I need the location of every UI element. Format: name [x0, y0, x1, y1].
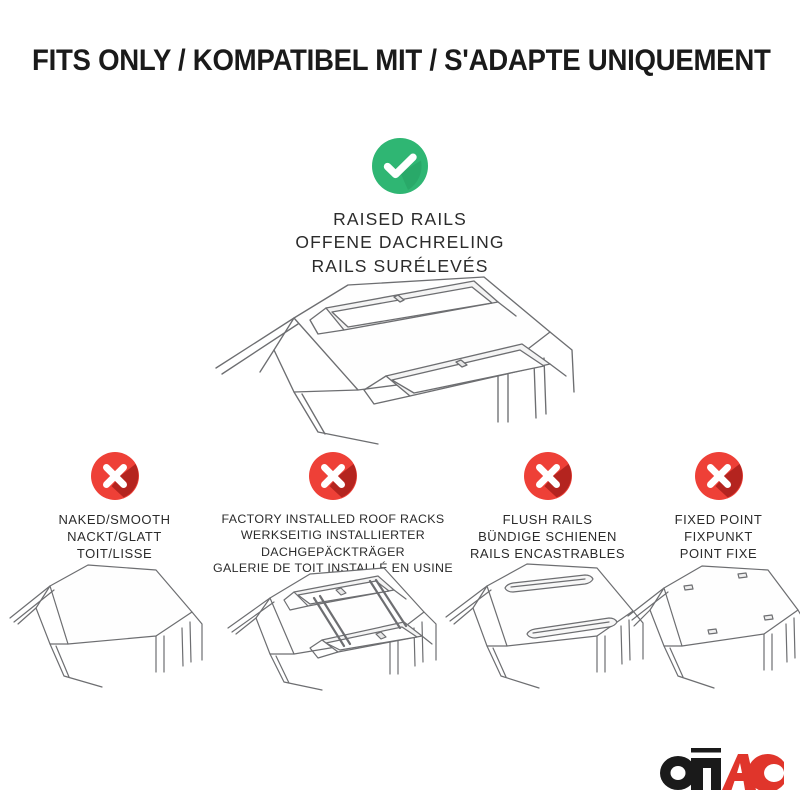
incompatible-item-flush-rails: FLUSH RAILS BÜNDIGE SCHIENEN RAILS ENCAS… — [455, 452, 640, 562]
incompatible-section: NAKED/SMOOTH NACKT/GLATT TOIT/LISSE FACT… — [0, 452, 800, 572]
car-roof-naked-illustration — [6, 556, 206, 691]
logo-letter-m — [691, 758, 721, 790]
check-badge-wrap — [0, 138, 800, 194]
incompatible-labels: FIXED POINT FIXPUNKT POINT FIXE — [637, 511, 800, 562]
incompatible-label-de: NACKT/GLATT — [17, 528, 212, 545]
incompatible-labels: FLUSH RAILS BÜNDIGE SCHIENEN RAILS ENCAS… — [455, 511, 640, 562]
compatible-labels: RAISED RAILS OFFENE DACHRELING RAILS SUR… — [0, 208, 800, 278]
compatible-label-en: RAISED RAILS — [0, 208, 800, 231]
car-roof-flush-rails-illustration — [443, 556, 648, 691]
incompatible-label-en: FLUSH RAILS — [455, 511, 640, 528]
incompatible-item-naked-smooth: NAKED/SMOOTH NACKT/GLATT TOIT/LISSE — [17, 452, 212, 562]
incompatible-label-de-1: WERKSEITIG INSTALLIERTER — [208, 527, 458, 543]
car-roof-factory-racks-illustration — [218, 556, 452, 691]
x-circle-icon — [695, 452, 743, 500]
logo-letter-o — [660, 756, 696, 790]
page-title: FITS ONLY / KOMPATIBEL MIT / S'ADAPTE UN… — [32, 46, 768, 76]
car-roof-fixed-point-illustration — [626, 556, 800, 691]
incompatible-label-en: FIXED POINT — [637, 511, 800, 528]
omac-logo — [660, 748, 784, 790]
check-circle-icon — [372, 138, 428, 194]
logo-letter-c — [748, 754, 784, 790]
logo-bar — [691, 748, 721, 753]
incompatible-labels: NAKED/SMOOTH NACKT/GLATT TOIT/LISSE — [17, 511, 212, 562]
incompatible-label-de: FIXPUNKT — [637, 528, 800, 545]
x-circle-icon — [524, 452, 572, 500]
incompatible-label-de: BÜNDIGE SCHIENEN — [455, 528, 640, 545]
x-badge-wrap — [17, 452, 212, 502]
x-circle-icon — [91, 452, 139, 500]
compatible-label-de: OFFENE DACHRELING — [0, 231, 800, 254]
compatible-section: RAISED RAILS OFFENE DACHRELING RAILS SUR… — [0, 138, 800, 278]
x-circle-icon — [309, 452, 357, 500]
x-badge-wrap — [208, 452, 458, 502]
incompatible-label-en: FACTORY INSTALLED ROOF RACKS — [208, 511, 458, 527]
x-badge-wrap — [455, 452, 640, 502]
header: FITS ONLY / KOMPATIBEL MIT / S'ADAPTE UN… — [0, 46, 800, 76]
car-roof-raised-rails-illustration — [198, 272, 602, 452]
incompatible-item-fixed-point: FIXED POINT FIXPUNKT POINT FIXE — [637, 452, 800, 562]
x-badge-wrap — [637, 452, 800, 502]
incompatible-label-en: NAKED/SMOOTH — [17, 511, 212, 528]
